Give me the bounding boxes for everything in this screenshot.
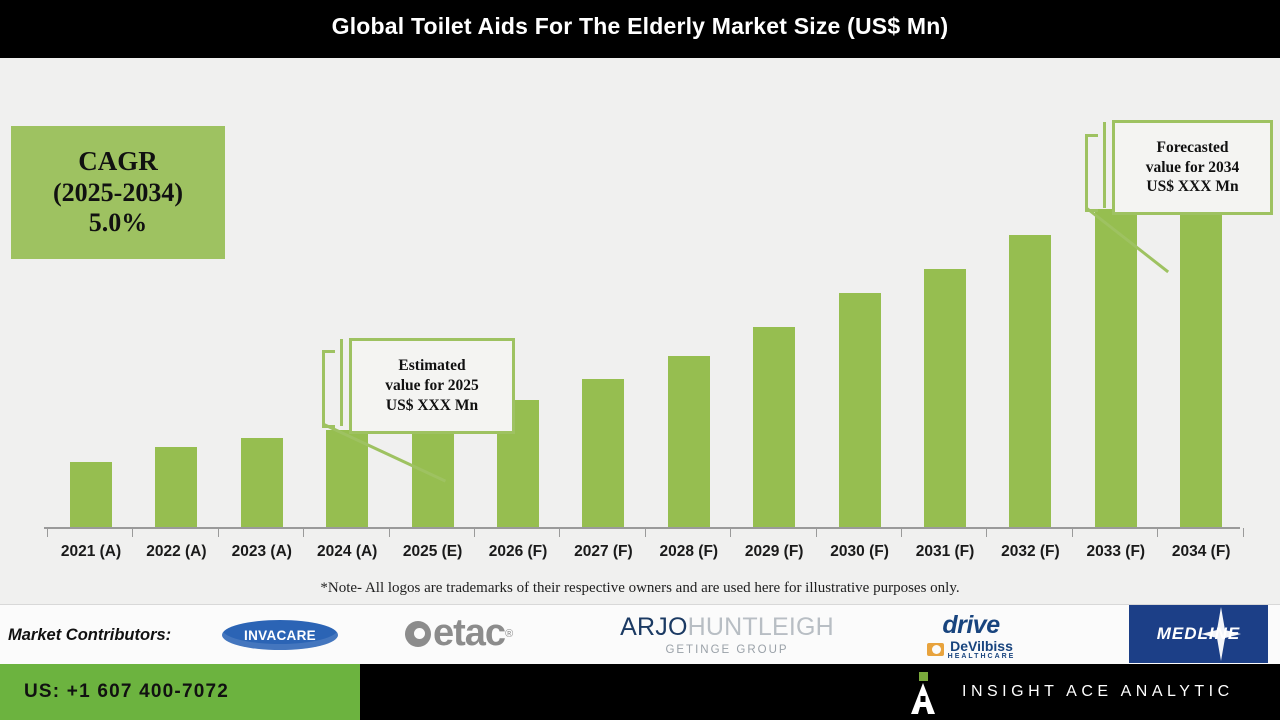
x-axis-tick: [47, 528, 48, 537]
logo-etac-registered: ®: [505, 628, 513, 640]
x-label-2032: 2032 (F): [987, 543, 1073, 561]
estimated-line3: US$ XXX Mn: [386, 396, 478, 416]
x-label-2030: 2030 (F): [817, 543, 903, 561]
cagr-badge: CAGR (2025-2034) 5.0%: [12, 127, 224, 258]
logo-arjo-text: ARJO: [620, 613, 687, 641]
cagr-value: 5.0%: [89, 208, 148, 239]
bar-2029: [753, 327, 795, 527]
x-label-2033: 2033 (F): [1073, 543, 1159, 561]
chart-panel: 2021 (A)2022 (A)2023 (A)2024 (A)2025 (E)…: [0, 58, 1280, 603]
header-bar: Global Toilet Aids For The Elderly Marke…: [0, 0, 1280, 58]
footer-phone-number[interactable]: US: +1 607 400-7072: [24, 681, 229, 703]
x-axis-tick: [132, 528, 133, 537]
bar-2031: [924, 269, 966, 527]
estimated-callout: Estimated value for 2025 US$ XXX Mn: [349, 338, 515, 434]
insight-ace-logo-icon: [902, 672, 944, 714]
x-axis-tick: [730, 528, 731, 537]
x-axis-line: [44, 527, 1240, 529]
footer-brand-name: INSIGHT ACE ANALYTIC: [962, 683, 1234, 701]
bar-2021: [70, 462, 112, 527]
bar-2022: [155, 447, 197, 527]
x-label-2022: 2022 (A): [133, 543, 219, 561]
x-axis-tick: [816, 528, 817, 537]
logo-invacare: INVACARE: [222, 620, 338, 650]
devilbiss-mark-icon: [927, 643, 944, 656]
cagr-label: CAGR: [78, 146, 158, 178]
forecasted-line2: value for 2034: [1146, 158, 1240, 178]
cagr-period: (2025-2034): [53, 178, 183, 209]
x-axis-tick: [1072, 528, 1073, 537]
bar-2034: [1180, 167, 1222, 527]
estimated-line1: Estimated: [398, 356, 465, 376]
bar-2023: [241, 438, 283, 527]
x-label-2025: 2025 (E): [390, 543, 476, 561]
logo-drive-devilbiss: drive DeVilbiss HEALTHCARE: [916, 611, 1026, 660]
x-label-2026: 2026 (F): [475, 543, 561, 561]
page-title: Global Toilet Aids For The Elderly Marke…: [0, 13, 1280, 40]
x-label-2034: 2034 (F): [1158, 543, 1244, 561]
x-axis-tick: [559, 528, 560, 537]
logo-devilbiss-text: DeVilbiss: [948, 638, 1016, 654]
x-axis-tick: [1243, 528, 1244, 537]
bar-2032: [1009, 235, 1051, 527]
forecasted-line1: Forecasted: [1156, 138, 1228, 158]
logo-devilbiss-block: DeVilbiss HEALTHCARE: [948, 638, 1016, 660]
forecasted-line3: US$ XXX Mn: [1146, 177, 1238, 197]
logo-devilbiss-row: DeVilbiss HEALTHCARE: [916, 638, 1026, 660]
infographic-page: Global Toilet Aids For The Elderly Marke…: [0, 0, 1280, 720]
forecasted-bracket-outer: [1085, 134, 1098, 212]
logo-arjohuntleigh: ARJOHUNTLEIGH GETINGE GROUP: [618, 613, 836, 656]
logo-medline-text: MEDLINE: [1157, 624, 1241, 644]
x-label-2021: 2021 (A): [48, 543, 134, 561]
x-label-2028: 2028 (F): [646, 543, 732, 561]
estimated-bracket-inner: [340, 339, 343, 426]
logo-arjo-wordmark: ARJOHUNTLEIGH: [618, 613, 836, 642]
logo-huntleigh-text: HUNTLEIGH: [688, 613, 834, 641]
x-label-2029: 2029 (F): [731, 543, 817, 561]
x-axis-tick: [901, 528, 902, 537]
logo-devilbiss-healthcare-text: HEALTHCARE: [948, 653, 1016, 660]
x-label-2024: 2024 (A): [304, 543, 390, 561]
bar-2030: [839, 293, 881, 527]
logo-etac: etac ®: [405, 612, 513, 655]
bar-2027: [582, 379, 624, 527]
x-label-2027: 2027 (F): [560, 543, 646, 561]
logo-invacare-text: INVACARE: [244, 628, 316, 643]
market-contributors-label: Market Contributors:: [8, 626, 171, 645]
estimated-line2: value for 2025: [385, 376, 479, 396]
x-label-2031: 2031 (F): [902, 543, 988, 561]
logo-drive-text: drive: [916, 611, 1026, 640]
bar-2024: [326, 430, 368, 527]
x-axis-tick: [389, 528, 390, 537]
logo-etac-text: etac: [433, 612, 505, 655]
x-axis-tick: [218, 528, 219, 537]
logo-medline: MEDLINE: [1129, 605, 1268, 663]
logo-getinge-group-text: GETINGE GROUP: [618, 644, 836, 656]
forecasted-callout: Forecasted value for 2034 US$ XXX Mn: [1112, 120, 1273, 215]
x-axis-tick: [303, 528, 304, 537]
x-axis-tick: [645, 528, 646, 537]
x-label-2023: 2023 (A): [219, 543, 305, 561]
trademark-note: *Note- All logos are trademarks of their…: [0, 580, 1280, 597]
bar-2028: [668, 356, 710, 527]
x-axis-tick: [1157, 528, 1158, 537]
estimated-bracket-outer: [322, 350, 335, 428]
bar-2033: [1095, 209, 1137, 527]
x-axis-tick: [986, 528, 987, 537]
forecasted-bracket-inner: [1103, 122, 1106, 208]
etac-circle-icon: [405, 621, 431, 647]
x-axis-labels: 2021 (A)2022 (A)2023 (A)2024 (A)2025 (E)…: [0, 543, 1280, 569]
x-axis-tick: [474, 528, 475, 537]
